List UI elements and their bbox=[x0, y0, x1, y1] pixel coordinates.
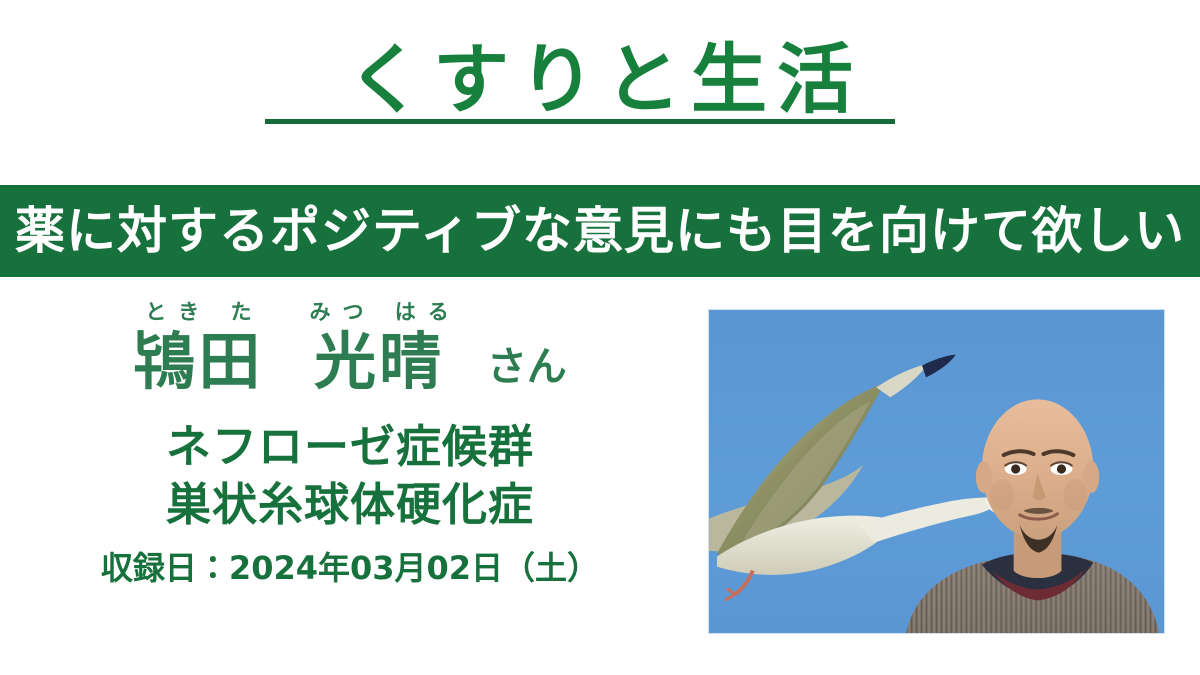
guest-name-line: とき た 鴇田 みつ はる 光晴 さん bbox=[0, 300, 700, 396]
subtitle-text: 薬に対するポジティブな意見にも目を向けて欲しい bbox=[15, 203, 1185, 259]
title-underline-rule bbox=[265, 119, 895, 124]
page-title: くすりと生活 bbox=[0, 38, 1200, 122]
surname-ruby-group: とき た 鴇田 bbox=[133, 300, 263, 396]
guest-surname: 鴇田 bbox=[133, 328, 263, 396]
surname-furigana: とき た bbox=[133, 300, 263, 324]
slide-root: くすりと生活 薬に対するポジティブな意見にも目を向けて欲しい とき た 鴇田 み… bbox=[0, 0, 1200, 675]
title-block: くすりと生活 bbox=[0, 38, 1200, 122]
guest-honorific: さん bbox=[487, 342, 567, 396]
givenname-ruby-group: みつ はる 光晴 bbox=[298, 300, 461, 396]
guest-photo bbox=[708, 309, 1165, 634]
record-date: 収録日：2024年03月02日（土） bbox=[0, 548, 700, 588]
diagnosis-line-2: 巣状糸球体硬化症 bbox=[0, 476, 700, 534]
guest-givenname: 光晴 bbox=[314, 328, 444, 396]
diagnosis-block: ネフローゼ症候群 巣状糸球体硬化症 bbox=[0, 418, 700, 534]
givenname-furigana: みつ はる bbox=[298, 300, 461, 324]
subtitle-banner: 薬に対するポジティブな意見にも目を向けて欲しい bbox=[0, 185, 1200, 277]
diagnosis-line-1: ネフローゼ症候群 bbox=[0, 418, 700, 476]
guest-info-column: とき た 鴇田 みつ はる 光晴 さん ネフローゼ症候群 巣状糸球体硬化症 収録… bbox=[0, 300, 700, 588]
guest-photo-image bbox=[709, 310, 1164, 633]
